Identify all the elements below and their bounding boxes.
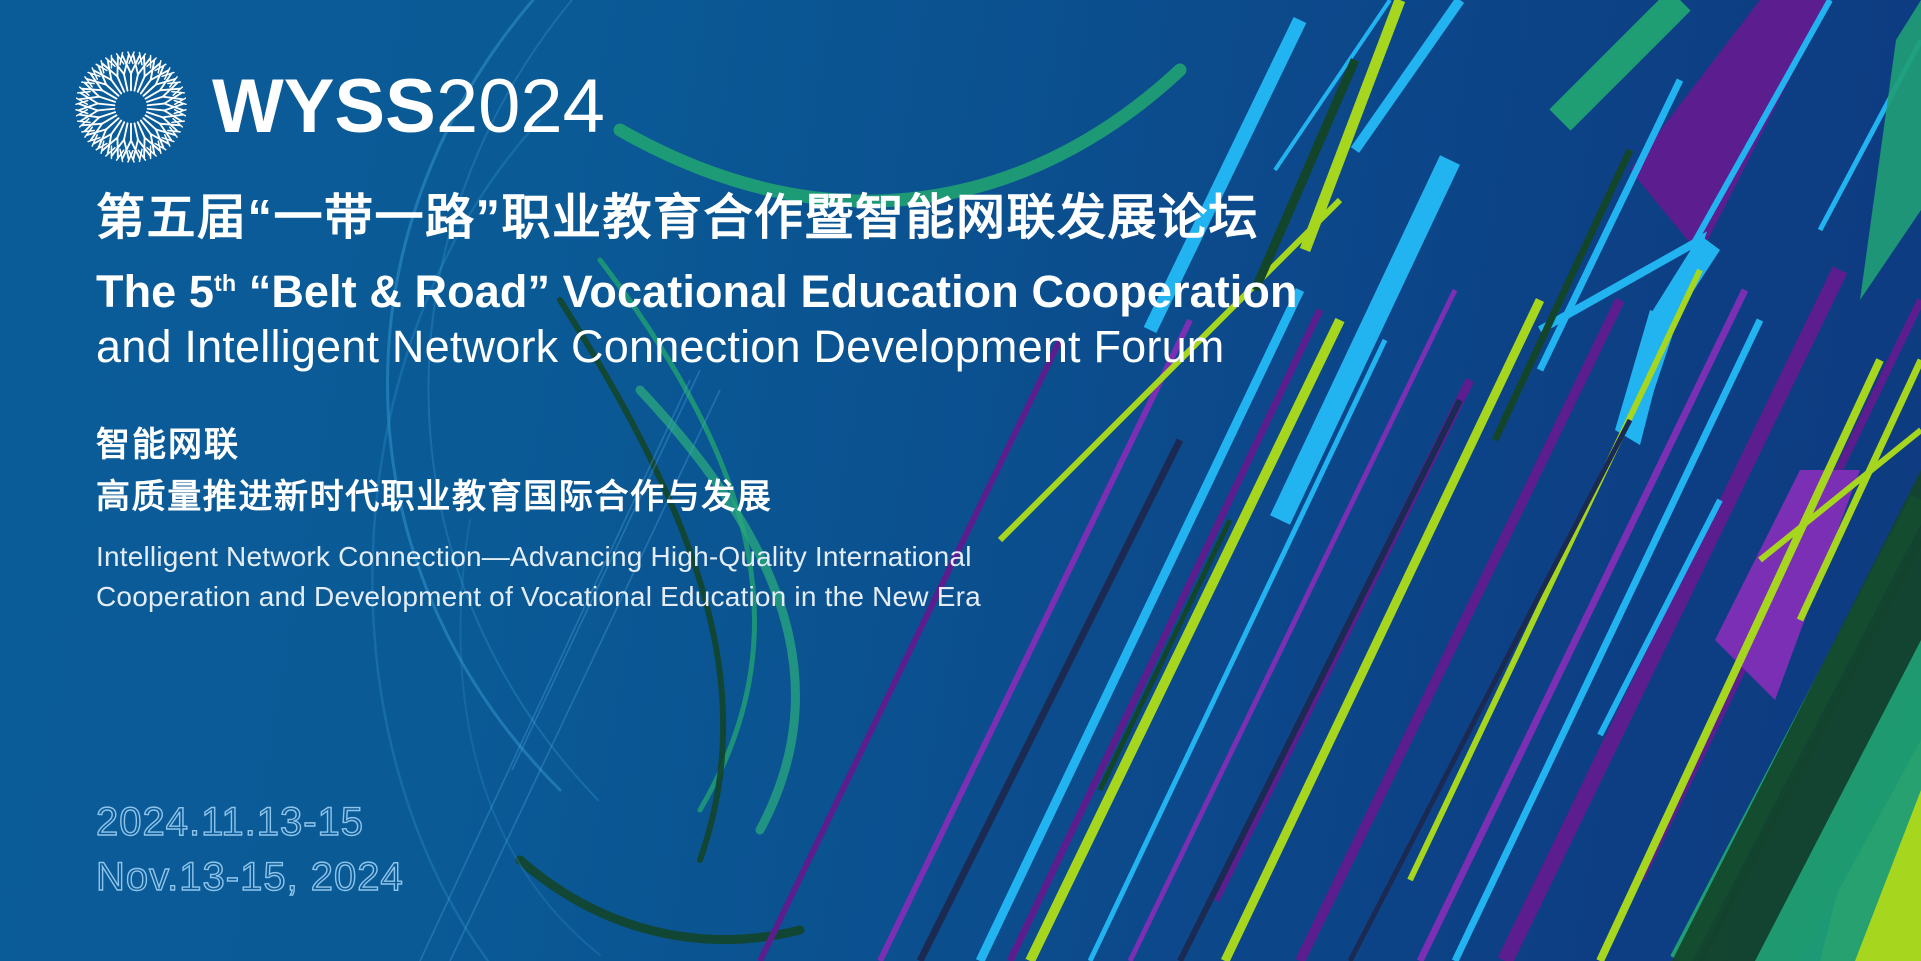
theme-block: 智能网联 高质量推进新时代职业教育国际合作与发展 Intelligent Net… [96,423,1596,617]
title-english-line1: The 5th “Belt & Road” Vocational Educati… [96,264,1596,320]
banner-content: 第五届“一带一路”职业教育合作暨智能网联发展论坛 The 5th “Belt &… [96,190,1596,617]
date-english-format: Nov.13-15, 2024 [96,850,404,905]
brand-lockup: WYSS2024 [72,48,605,166]
title-chinese: 第五届“一带一路”职业教育合作暨智能网联发展论坛 [96,190,1596,248]
ordinal-suffix: th [214,270,236,296]
radial-burst-icon [72,48,190,166]
theme-english-line2: Cooperation and Development of Vocationa… [96,577,1596,617]
conference-banner: WYSS2024 第五届“一带一路”职业教育合作暨智能网联发展论坛 The 5t… [0,0,1921,961]
date-chinese-format: 2024.11.13-15 [96,795,404,850]
theme-chinese-line1: 智能网联 [96,423,1596,467]
theme-english-line1: Intelligent Network Connection—Advancing… [96,537,1596,577]
title-english-line2: and Intelligent Network Connection Devel… [96,320,1596,375]
wordmark-year: 2024 [436,69,605,145]
date-block: 2024.11.13-15 Nov.13-15, 2024 [96,795,404,905]
wordmark: WYSS2024 [212,69,605,145]
wordmark-brand: WYSS [212,69,436,145]
theme-chinese-line2: 高质量推进新时代职业教育国际合作与发展 [96,475,1596,519]
title-english-pre: The 5 [96,266,214,317]
title-english-post: “Belt & Road” Vocational Education Coope… [236,266,1297,317]
